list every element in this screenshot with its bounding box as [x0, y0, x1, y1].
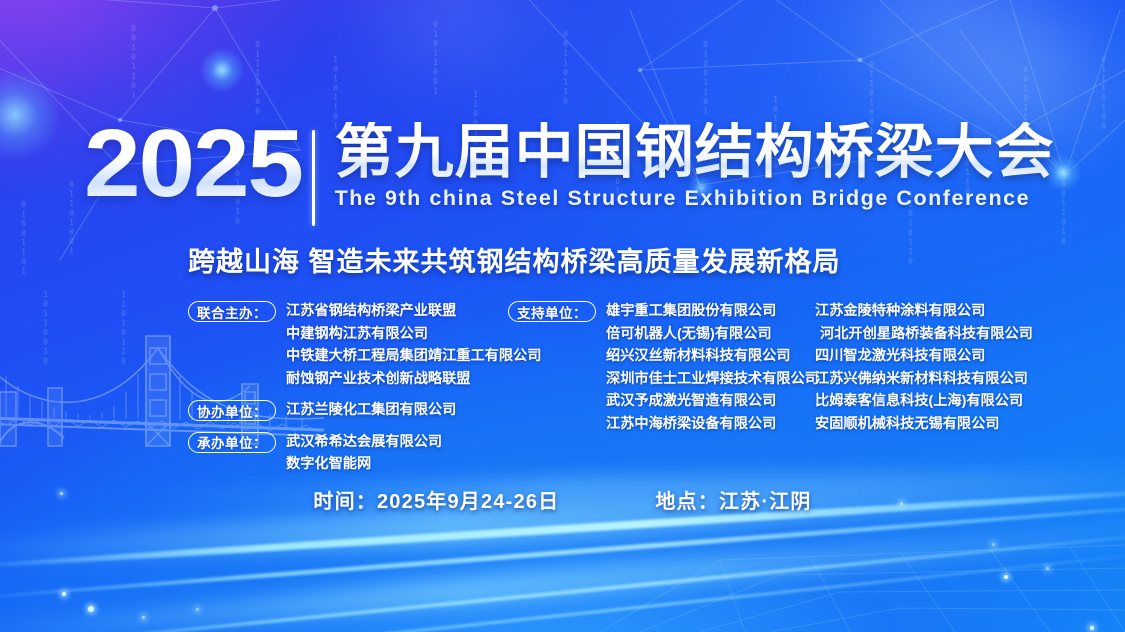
organizer-name-list: 江苏省钢结构桥梁产业联盟 中建钢构江苏有限公司 中铁建大桥工程局集团靖江重工有限…	[286, 300, 541, 390]
conference-banner: 01001101 10110010 01101001 11010110 0010…	[0, 0, 1125, 632]
label-pill-undertaker: 承办单位：	[188, 432, 276, 453]
label-pill-supporter: 支持单位：	[508, 301, 596, 322]
organizer-name-list: 江苏金陵特种涂料有限公司 河北开创星路桥装备科技有限公司 四川智龙激光科技有限公…	[815, 300, 1033, 435]
organizer-name: 深圳市佳士工业焊接技术有限公司	[606, 368, 819, 391]
label-pill-joint-host: 联合主办：	[188, 301, 276, 322]
title-divider	[312, 130, 315, 226]
footer-info: 时间：2025年9月24-26日 地点：江苏·江阴	[0, 485, 1125, 514]
organizer-name-list: 江苏兰陵化工集团有限公司	[286, 399, 456, 422]
organizer-group: 协办单位： 江苏兰陵化工集团有限公司	[188, 399, 541, 422]
organizer-name: 耐蚀钢产业技术创新战略联盟	[286, 368, 541, 391]
organizer-name: 江苏兴佛纳米新材料科技有限公司	[815, 368, 1033, 391]
organizer-name: 比姆泰客信息科技(上海)有限公司	[815, 390, 1033, 413]
organizer-name-list: 雄宇重工集团股份有限公司 倍可机器人(无锡)有限公司 绍兴汉丝新材料科技有限公司…	[606, 300, 819, 435]
title-block: 第九届中国钢结构桥梁大会 The 9th china Steel Structu…	[335, 122, 1055, 211]
organizer-name: 安固顺机械科技无锡有限公司	[815, 413, 1033, 436]
organizer-name: 中铁建大桥工程局集团靖江重工有限公司	[286, 345, 541, 368]
organizer-name: 江苏金陵特种涂料有限公司	[815, 300, 1033, 323]
organizer-name: 武汉予成激光智造有限公司	[606, 390, 819, 413]
organizer-name: 武汉希希达会展有限公司	[286, 431, 442, 454]
organizer-name: 倍可机器人(无锡)有限公司	[606, 323, 819, 346]
page-subtitle-english: The 9th china Steel Structure Exhibition…	[335, 186, 1055, 211]
organizer-name: 四川智龙激光科技有限公司	[815, 345, 1033, 368]
label-pill-co-organizer: 协办单位：	[188, 400, 276, 421]
organizer-name: 江苏省钢结构桥梁产业联盟	[286, 300, 541, 323]
organizer-group: 联合主办： 江苏省钢结构桥梁产业联盟 中建钢构江苏有限公司 中铁建大桥工程局集团…	[188, 300, 541, 390]
organizer-column-3: 江苏金陵特种涂料有限公司 河北开创星路桥装备科技有限公司 四川智龙激光科技有限公…	[805, 300, 1033, 435]
event-location: 地点：江苏·江阴	[655, 485, 811, 514]
organizer-name-list: 武汉希希达会展有限公司 数字化智能网	[286, 431, 442, 476]
organizer-name: 数字化智能网	[286, 453, 442, 476]
organizer-group: 支持单位： 雄宇重工集团股份有限公司 倍可机器人(无锡)有限公司 绍兴汉丝新材料…	[508, 300, 819, 435]
organizer-column-1: 联合主办： 江苏省钢结构桥梁产业联盟 中建钢构江苏有限公司 中铁建大桥工程局集团…	[188, 300, 541, 485]
page-title: 第九届中国钢结构桥梁大会	[335, 122, 1055, 182]
organizer-name: 河北开创星路桥装备科技有限公司	[815, 323, 1033, 346]
organizer-section: 联合主办： 江苏省钢结构桥梁产业联盟 中建钢构江苏有限公司 中铁建大桥工程局集团…	[0, 300, 1125, 445]
organizer-name: 江苏兰陵化工集团有限公司	[286, 399, 456, 422]
organizer-name: 雄宇重工集团股份有限公司	[606, 300, 819, 323]
banner-content: 2025 第九届中国钢结构桥梁大会 The 9th china Steel St…	[0, 0, 1125, 632]
title-row: 2025 第九届中国钢结构桥梁大会 The 9th china Steel St…	[84, 120, 1055, 226]
year-text: 2025	[84, 120, 302, 208]
organizer-column-2: 支持单位： 雄宇重工集团股份有限公司 倍可机器人(无锡)有限公司 绍兴汉丝新材料…	[508, 300, 819, 444]
organizer-name: 绍兴汉丝新材料科技有限公司	[606, 345, 819, 368]
organizer-group: 承办单位： 武汉希希达会展有限公司 数字化智能网	[188, 431, 541, 476]
event-date: 时间：2025年9月24-26日	[313, 485, 559, 514]
organizer-name: 中建钢构江苏有限公司	[286, 323, 541, 346]
organizer-name: 江苏中海桥梁设备有限公司	[606, 413, 819, 436]
slogan-text: 跨越山海 智造未来共筑钢结构桥梁高质量发展新格局	[188, 240, 841, 279]
